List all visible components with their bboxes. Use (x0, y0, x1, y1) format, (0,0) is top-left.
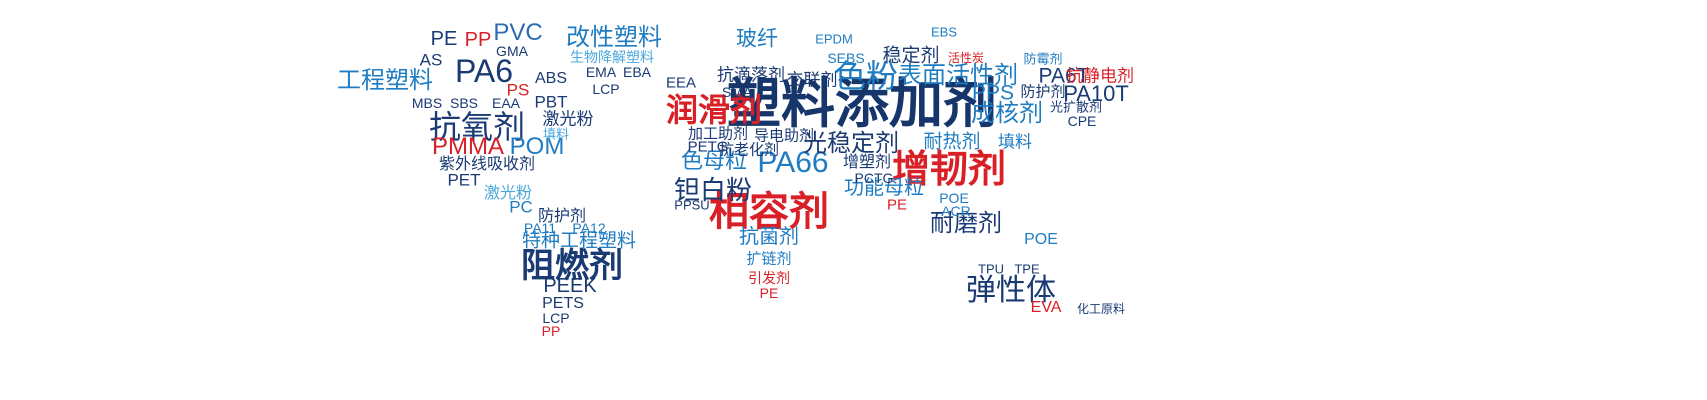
cloud-word[interactable]: 玻纤 (736, 29, 778, 50)
cloud-word[interactable]: PP (465, 30, 492, 50)
cloud-word[interactable]: EBA (623, 65, 651, 79)
cloud-word[interactable]: PVC (493, 21, 542, 45)
cloud-word[interactable]: 防霉剂 (1023, 53, 1062, 66)
cloud-word[interactable]: PA6 (455, 55, 513, 87)
cloud-word[interactable]: SBS (450, 96, 478, 110)
cloud-word[interactable]: 光稳定剂 (803, 132, 899, 156)
cloud-word[interactable]: EBS (931, 26, 957, 39)
cloud-word[interactable]: PA12 (572, 221, 605, 235)
cloud-word[interactable]: 工程塑料 (337, 69, 433, 93)
cloud-word[interactable]: 增塑剂 (843, 155, 891, 171)
cloud-word[interactable]: AS (420, 52, 443, 69)
cloud-word[interactable]: PET (447, 172, 480, 189)
cloud-word[interactable]: SMA (722, 85, 752, 99)
cloud-word[interactable]: 激光粉 (543, 111, 594, 128)
cloud-word[interactable]: 防护剂 (1020, 85, 1065, 100)
cloud-word[interactable]: EMA (586, 65, 616, 79)
cloud-word[interactable]: 成核剂 (971, 102, 1043, 126)
cloud-word[interactable]: PC (509, 199, 533, 216)
cloud-word[interactable]: 耐热剂 (923, 133, 980, 152)
cloud-word[interactable]: 抗滴落剂 (717, 67, 785, 84)
cloud-word[interactable]: EVA (1031, 300, 1062, 316)
cloud-word[interactable]: PPS (972, 83, 1014, 104)
cloud-word[interactable]: 生物降解塑料 (570, 50, 654, 64)
cloud-word[interactable]: 填料 (998, 134, 1032, 151)
cloud-word[interactable]: PE (887, 198, 907, 213)
cloud-word[interactable]: TPU (978, 263, 1004, 276)
cloud-word[interactable]: PA11 (524, 221, 556, 235)
cloud-word[interactable]: 抗静电剂 (1066, 68, 1134, 85)
cloud-word[interactable]: EEA (666, 76, 696, 91)
cloud-word[interactable]: 活性炭 (948, 52, 984, 64)
cloud-word[interactable]: 抗菌剂 (739, 227, 799, 247)
cloud-word[interactable]: CPE (1068, 114, 1097, 128)
cloud-word[interactable]: MBS (412, 96, 442, 110)
cloud-word[interactable]: PE (431, 29, 458, 49)
cloud-word[interactable]: PPSU (674, 199, 709, 212)
cloud-word[interactable]: PETG (688, 140, 729, 155)
cloud-word[interactable]: 稳定剂 (882, 47, 939, 66)
cloud-word[interactable]: PBT (534, 94, 567, 111)
cloud-word[interactable]: SEBS (827, 51, 864, 65)
cloud-word[interactable]: PP (542, 324, 561, 338)
cloud-word[interactable]: PCTG (855, 171, 894, 185)
cloud-word[interactable]: 改性塑料 (566, 26, 662, 50)
cloud-word[interactable]: POE (1024, 232, 1058, 248)
cloud-word[interactable]: ACR (941, 204, 971, 218)
cloud-word[interactable]: 引发剂 (748, 271, 790, 285)
cloud-word[interactable]: 化工原料 (1077, 303, 1125, 315)
cloud-word[interactable]: LCP (592, 82, 619, 96)
cloud-word[interactable]: 扩链剂 (746, 252, 791, 267)
cloud-word[interactable]: GMA (496, 44, 528, 58)
cloud-word[interactable]: 光扩散剂 (1050, 101, 1102, 114)
wordcloud-canvas: 塑料添加剂相容剂增韧剂阻燃剂润滑剂色粉抗氧剂弹性体PA6PA66钽白粉表面活性剂… (0, 0, 1707, 400)
cloud-word[interactable]: EAA (492, 96, 520, 110)
cloud-word[interactable]: PEEK (543, 276, 596, 296)
cloud-word[interactable]: 填料 (543, 128, 569, 141)
cloud-word[interactable]: TPE (1014, 263, 1039, 276)
cloud-word[interactable]: 交联剂 (787, 72, 838, 89)
cloud-word[interactable]: PE (760, 286, 779, 300)
cloud-word[interactable]: EPDM (815, 33, 853, 46)
cloud-word[interactable]: ABS (535, 71, 567, 87)
